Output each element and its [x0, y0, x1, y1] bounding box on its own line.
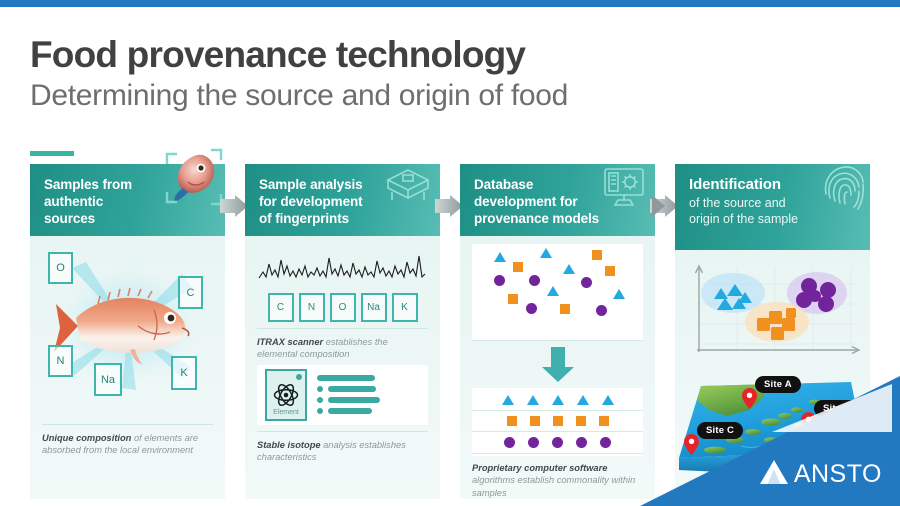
page-title: Food provenance technology Determining t…	[30, 36, 568, 113]
flow-arrow-2-icon	[435, 195, 463, 217]
panel-analysis-caption-1: ITRAX scanner establishes the elemental …	[257, 336, 428, 361]
marker-circle	[529, 275, 540, 286]
site-label-a[interactable]: Site A	[755, 376, 801, 393]
unsorted-samples-scatter	[472, 244, 643, 340]
flow-arrow-in-icon	[652, 195, 680, 217]
sorted-samples-table	[472, 388, 643, 456]
fish-with-elements-icon: O C N Na K	[42, 248, 213, 418]
atom-icon	[271, 380, 301, 410]
marker-triangle	[563, 264, 575, 274]
marker-circle	[526, 303, 537, 314]
panel-identification[interactable]: Identification of the source and origin …	[675, 164, 870, 499]
element-box-na: Na	[94, 363, 122, 396]
process-panels: Samples from authentic sources	[30, 164, 870, 499]
panel-analysis-title: Sample analysis for development of finge…	[259, 176, 428, 227]
list-item	[317, 386, 380, 392]
status-dot	[296, 374, 302, 380]
stable-isotope-card: Element	[257, 365, 428, 425]
caption-divider-2	[257, 431, 428, 432]
list-item	[317, 408, 380, 414]
marker-square	[513, 262, 523, 272]
list-item	[317, 375, 380, 381]
panel-samples-title: Samples from authentic sources	[44, 176, 213, 227]
element-box-n: N	[48, 345, 73, 377]
flow-arrow-1-icon	[220, 195, 248, 217]
panel-database-title: Database development for provenance mode…	[474, 176, 643, 227]
map-pin-icon[interactable]	[684, 434, 699, 455]
down-arrow-icon	[472, 341, 643, 388]
panel-samples-body: O C N Na K Unique composition of element…	[30, 236, 225, 499]
element-box-o: O	[330, 293, 356, 322]
caption-emphasis: Stable isotope	[257, 440, 321, 450]
ansto-wordmark: ANSTO	[794, 460, 882, 489]
caption-divider-1	[257, 328, 428, 329]
marker-square	[560, 304, 570, 314]
map-pin-icon[interactable]	[801, 412, 816, 433]
caption-emphasis: Proprietary computer software	[472, 463, 607, 473]
marker-triangle	[540, 248, 552, 258]
element-box-k: K	[392, 293, 418, 322]
marker-square	[592, 250, 602, 260]
site-label-b[interactable]: Site B	[814, 400, 860, 417]
panel-samples-caption: Unique composition of elements are absor…	[42, 432, 213, 457]
ansto-logo[interactable]: ANSTO	[759, 459, 882, 490]
panel-database-caption: Proprietary computer software algorithms…	[472, 462, 643, 499]
panel-identification-subtitle: of the source and origin of the sample	[689, 196, 858, 227]
caption-text: algorithms establish commonality within …	[472, 475, 635, 497]
site-label-c[interactable]: Site C	[697, 422, 743, 439]
ansto-delta-icon	[759, 459, 789, 490]
panel-analysis-caption-2: Stable isotope analysis establishes char…	[257, 439, 428, 464]
marker-square	[605, 266, 615, 276]
element-box-label: Element	[273, 409, 299, 416]
panel-database[interactable]: Database development for provenance mode…	[460, 164, 655, 499]
marker-triangle	[494, 252, 506, 262]
table-row	[472, 390, 643, 410]
element-box-k: K	[171, 356, 197, 390]
element-box-c: C	[178, 276, 203, 309]
panel-analysis-header: Sample analysis for development of finge…	[245, 164, 440, 236]
panel-samples-header: Samples from authentic sources	[30, 164, 225, 236]
marker-triangle	[547, 286, 559, 296]
marker-circle	[494, 275, 505, 286]
panel-analysis[interactable]: Sample analysis for development of finge…	[245, 164, 440, 499]
title-subtitle: Determining the source and origin of foo…	[30, 79, 568, 114]
marker-circle	[596, 305, 607, 316]
panel-analysis-body: C N O Na K ITRAX scanner establishes the…	[245, 236, 440, 499]
panel-identification-header: Identification of the source and origin …	[675, 164, 870, 250]
caption-emphasis: Unique composition	[42, 433, 131, 443]
list-item	[317, 397, 380, 403]
element-box-c: C	[268, 293, 294, 322]
marker-circle	[581, 277, 592, 288]
panel-samples[interactable]: Samples from authentic sources	[30, 164, 225, 499]
top-accent-rule	[0, 0, 900, 7]
table-row	[472, 411, 643, 431]
spectrum-waveform-icon	[257, 244, 428, 291]
element-box-na: Na	[361, 293, 387, 322]
result-list	[317, 375, 380, 414]
marker-triangle	[613, 289, 625, 299]
panel-database-body: Proprietary computer software algorithms…	[460, 236, 655, 499]
accent-dash	[30, 151, 74, 156]
table-row	[472, 432, 643, 453]
marker-square	[508, 294, 518, 304]
caption-emphasis: ITRAX scanner	[257, 337, 323, 347]
cluster-scatter-icon	[685, 260, 862, 364]
element-boxes-row: C N O Na K	[257, 293, 428, 322]
panel-database-header: Database development for provenance mode…	[460, 164, 655, 236]
element-atom-box: Element	[265, 369, 307, 421]
element-box-n: N	[299, 293, 325, 322]
panel-identification-title: Identification	[689, 176, 858, 195]
element-box-o: O	[48, 252, 73, 284]
title-main: Food provenance technology	[30, 36, 568, 75]
map-pin-icon[interactable]	[742, 388, 757, 409]
caption-divider	[42, 424, 213, 425]
